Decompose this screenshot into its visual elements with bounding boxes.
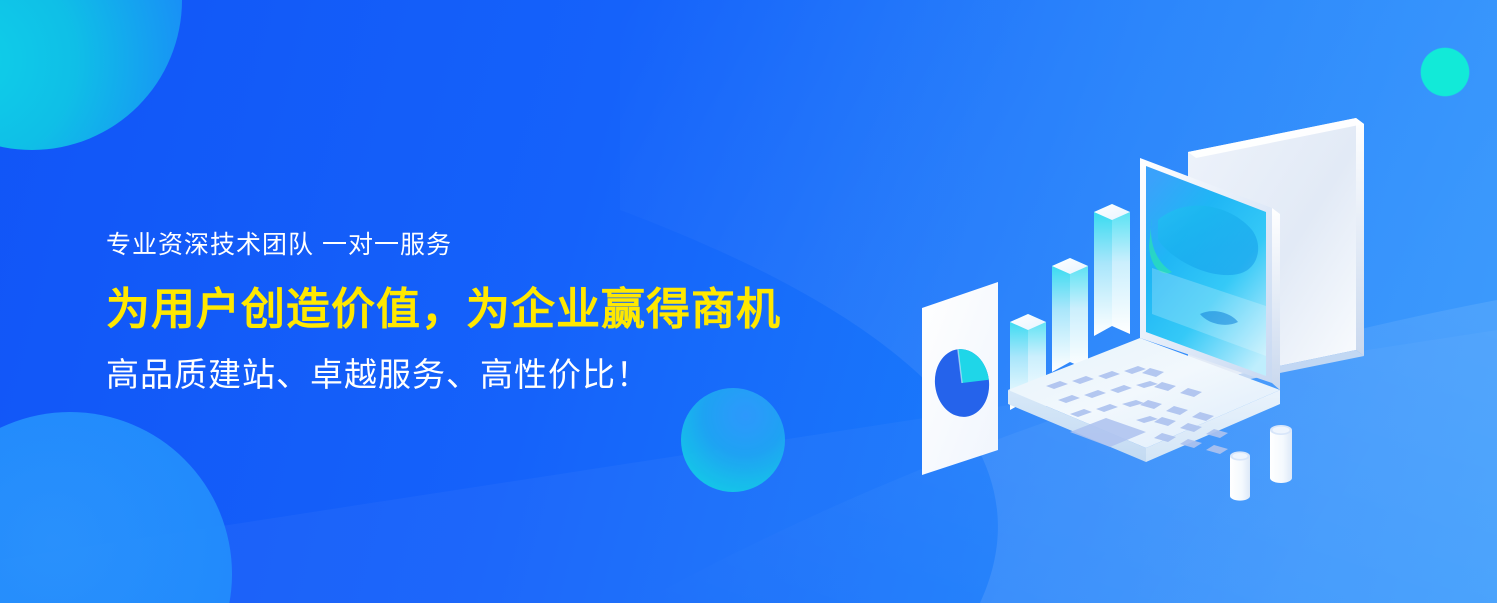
bar-3 (1094, 204, 1130, 336)
pie-chart-card (922, 282, 998, 475)
cylinder-large (1270, 425, 1292, 483)
decor-circle-middle (681, 388, 785, 492)
laptop (1008, 158, 1280, 462)
isometric-laptop-analytics-svg (900, 100, 1420, 530)
hero-subline: 高品质建站、卓越服务、高性价比！ (106, 352, 806, 398)
decor-circle-top-right (1421, 48, 1469, 96)
hero-eyebrow: 专业资深技术团队 一对一服务 (106, 228, 806, 262)
cylinder-small (1230, 451, 1250, 500)
hero-illustration (900, 100, 1420, 530)
hero-headline: 为用户创造价值，为企业赢得商机 (106, 280, 806, 340)
hero-copy: 专业资深技术团队 一对一服务 为用户创造价值，为企业赢得商机 高品质建站、卓越服… (106, 228, 806, 398)
hero-banner: 专业资深技术团队 一对一服务 为用户创造价值，为企业赢得商机 高品质建站、卓越服… (0, 0, 1497, 603)
bar-2 (1052, 258, 1088, 372)
